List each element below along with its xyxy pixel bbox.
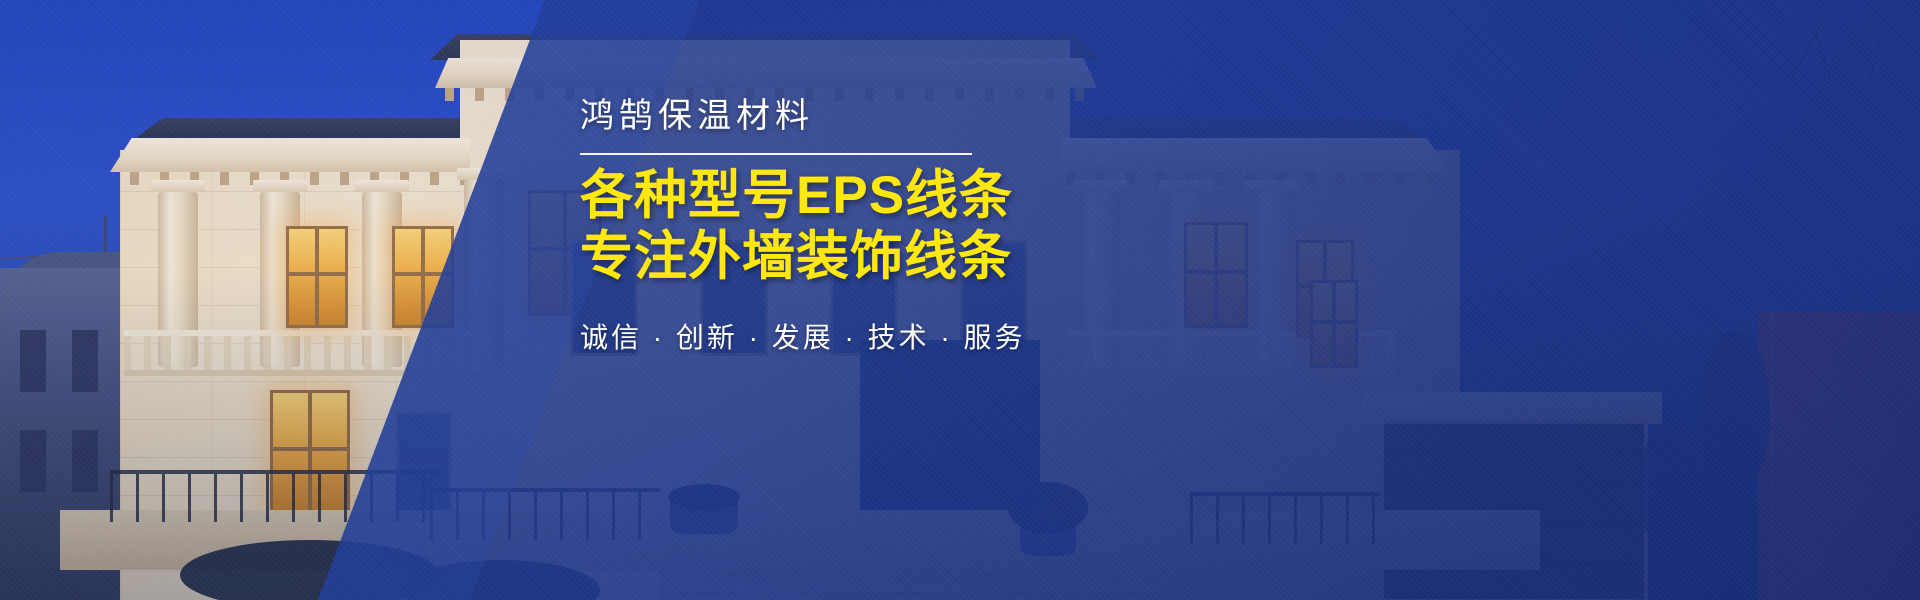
distant-window (72, 330, 98, 392)
background-tree (1700, 330, 1770, 490)
lit-window (286, 226, 348, 328)
planter-shrub (668, 484, 740, 510)
company-name: 鸿鹄保温材料 (580, 96, 1050, 137)
distant-window (20, 430, 46, 492)
red-wall-seam (1770, 312, 1773, 600)
left-wing-cornice (110, 138, 470, 172)
distant-window (72, 430, 98, 492)
lit-window (392, 226, 454, 328)
background-tree (1640, 420, 1700, 550)
entry-steps (660, 560, 1220, 600)
distant-window (20, 330, 46, 392)
planter-shrub (1008, 482, 1088, 534)
iron-railing (1190, 492, 1380, 544)
headline-line-1: 各种型号EPS线条 (580, 165, 1050, 226)
headline-line-2: 专注外墙装饰线条 (580, 226, 1050, 287)
iron-railing (110, 470, 440, 522)
center-cornice (435, 58, 1097, 88)
lit-window (1310, 280, 1358, 368)
iron-railing (430, 488, 660, 540)
promotional-banner: 鸿鹄保温材料 各种型号EPS线条 专注外墙装饰线条 诚信 · 创新 · 发展 ·… (0, 0, 1920, 600)
balustrade (124, 330, 484, 376)
lit-window (1184, 222, 1248, 328)
banner-copy: 鸿鹄保温材料 各种型号EPS线条 专注外墙装饰线条 诚信 · 创新 · 发展 ·… (580, 96, 1050, 356)
right-wing-cornice (1060, 138, 1450, 172)
red-wall (1758, 312, 1920, 600)
tagline: 诚信 · 创新 · 发展 · 技术 · 服务 (580, 316, 1050, 356)
divider-rule (580, 153, 972, 155)
